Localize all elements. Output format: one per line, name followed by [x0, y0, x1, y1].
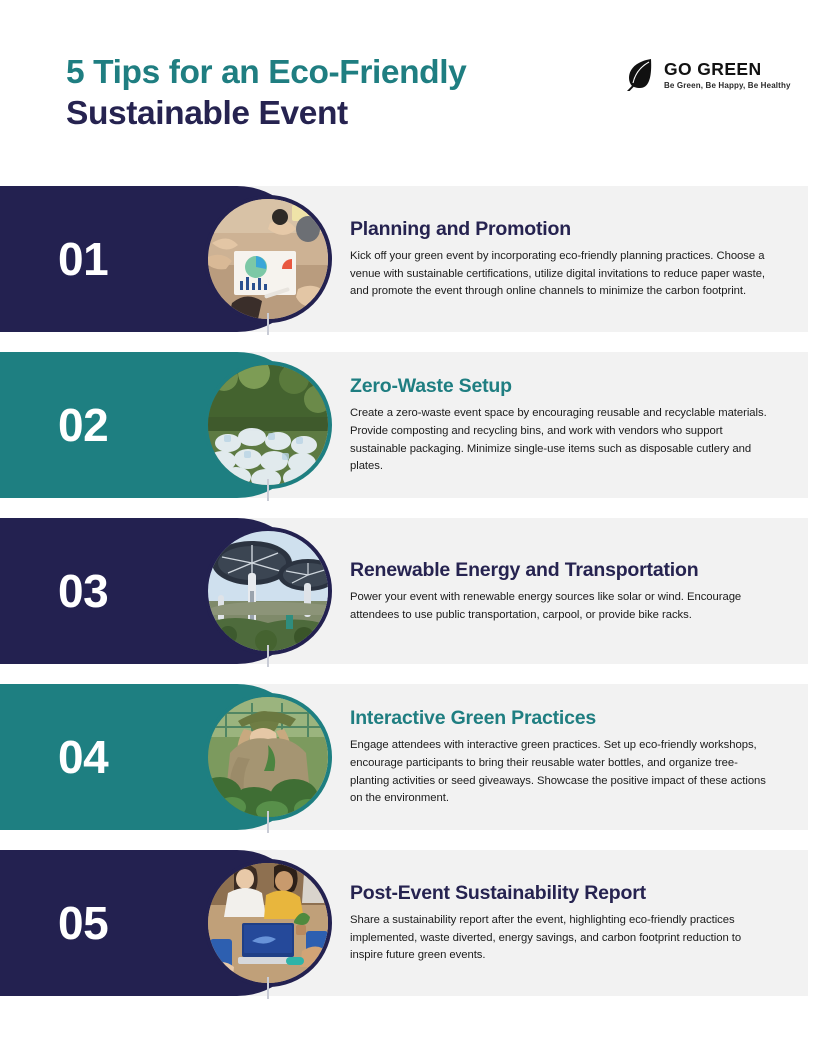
tip-heading: Zero-Waste Setup — [350, 374, 772, 398]
title-line-secondary: Sustainable Event — [66, 93, 586, 134]
tip-number: 03 — [58, 566, 108, 616]
tip-photo-tick — [267, 479, 269, 501]
team-working-on-laptops-photo — [208, 863, 328, 983]
tip-number: 01 — [58, 234, 108, 284]
tip-text-block: Interactive Green Practices Engage atten… — [350, 684, 780, 830]
tip-row: 02 — [0, 352, 816, 498]
tip-photo — [204, 527, 332, 655]
people-reviewing-charts-at-desk-photo — [208, 199, 328, 319]
pile-of-plastic-bottles-photo — [208, 365, 328, 485]
tips-list: 01 — [0, 186, 816, 1016]
tip-row: 01 — [0, 186, 816, 332]
tip-heading: Interactive Green Practices — [350, 706, 772, 730]
infographic-page: 5 Tips for an Eco-Friendly Sustainable E… — [0, 0, 816, 1056]
tip-photo — [204, 195, 332, 323]
tip-row: 04 — [0, 684, 816, 830]
tip-photo-tick — [267, 977, 269, 999]
solar-tree-panels-photo — [208, 531, 328, 651]
tip-heading: Renewable Energy and Transportation — [350, 558, 772, 582]
tip-heading: Planning and Promotion — [350, 217, 772, 241]
woman-tending-green-plants-photo — [208, 697, 328, 817]
title-line-primary: 5 Tips for an Eco-Friendly — [66, 52, 586, 93]
tip-photo-tick — [267, 811, 269, 833]
brand-logo: GO GREEN Be Green, Be Happy, Be Healthy — [625, 58, 791, 92]
tip-text-block: Renewable Energy and Transportation Powe… — [350, 518, 780, 664]
tip-body: Engage attendees with interactive green … — [350, 737, 772, 807]
logo-text-group: GO GREEN Be Green, Be Happy, Be Healthy — [664, 60, 791, 91]
page-title: 5 Tips for an Eco-Friendly Sustainable E… — [66, 52, 586, 134]
logo-tagline: Be Green, Be Happy, Be Healthy — [664, 81, 791, 91]
leaf-icon — [625, 58, 655, 92]
tip-text-block: Post-Event Sustainability Report Share a… — [350, 850, 780, 996]
tip-text-block: Planning and Promotion Kick off your gre… — [350, 186, 780, 332]
page-header: 5 Tips for an Eco-Friendly Sustainable E… — [0, 0, 816, 180]
tip-photo-tick — [267, 645, 269, 667]
tip-body: Power your event with renewable energy s… — [350, 589, 772, 624]
tip-body: Kick off your green event by incorporati… — [350, 248, 772, 301]
tip-heading: Post-Event Sustainability Report — [350, 881, 772, 905]
logo-name: GO GREEN — [664, 60, 791, 79]
tip-text-block: Zero-Waste Setup Create a zero-waste eve… — [350, 352, 780, 498]
tip-photo — [204, 361, 332, 489]
tip-row: 03 — [0, 518, 816, 664]
tip-row: 05 — [0, 850, 816, 996]
tip-photo — [204, 859, 332, 987]
tip-number: 02 — [58, 400, 108, 450]
tip-body: Create a zero-waste event space by encou… — [350, 405, 772, 475]
tip-number: 05 — [58, 898, 108, 948]
tip-body: Share a sustainability report after the … — [350, 912, 772, 965]
tip-photo — [204, 693, 332, 821]
tip-photo-tick — [267, 313, 269, 335]
tip-number: 04 — [58, 732, 108, 782]
